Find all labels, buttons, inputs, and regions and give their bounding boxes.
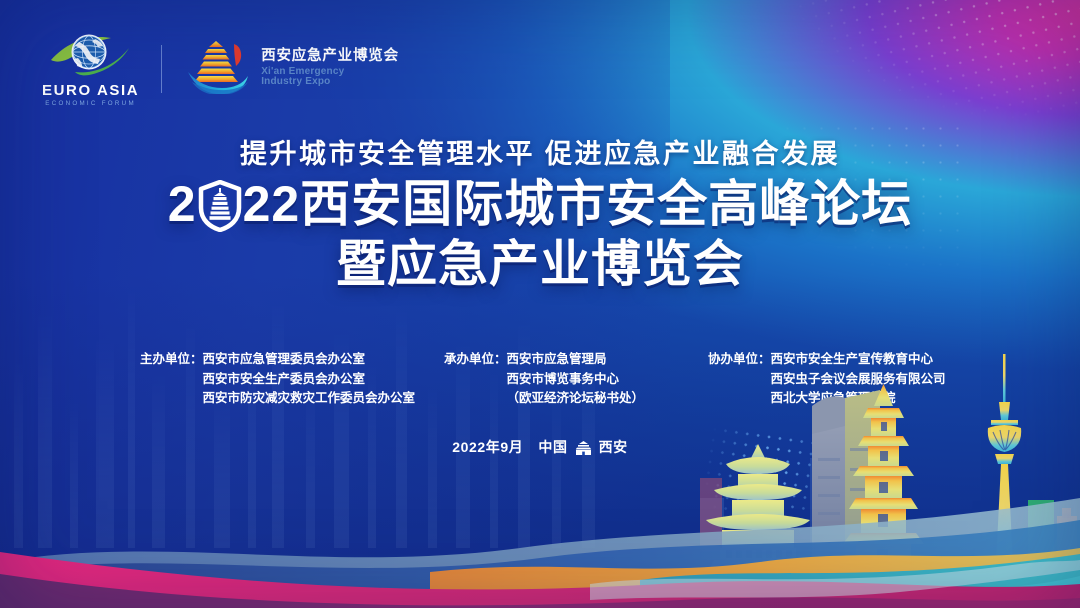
expo-name-en-line2: Industry Expo xyxy=(261,77,399,88)
title-year-prefix: 2 xyxy=(168,174,197,234)
poster-title: 2 22 西安国际城市安全高峰论坛 暨应急产业 xyxy=(0,174,1080,294)
expo-name-cn: 西安应急产业博览会 xyxy=(261,49,399,64)
title-year-suffix: 22 xyxy=(243,174,301,234)
shield-pagoda-icon xyxy=(198,180,242,232)
title-line-1-rest: 西安国际城市安全高峰论坛 xyxy=(300,174,912,234)
logo-row: EURO ASIA ECONOMIC FORUM xyxy=(42,30,399,107)
logo-euro-asia-economic-forum: EURO ASIA ECONOMIC FORUM xyxy=(42,30,139,107)
logo-xian-emergency-industry-expo: 西安应急产业博览会 Xi'an Emergency Industry Expo xyxy=(184,38,399,99)
euro-asia-subtitle: ECONOMIC FORUM xyxy=(45,100,136,107)
skyline-illustration xyxy=(0,348,1080,608)
logo-divider xyxy=(161,45,162,93)
pagoda-wave-icon xyxy=(184,38,252,99)
euro-asia-name: EURO ASIA xyxy=(42,83,139,98)
title-line-1: 2 22 西安国际城市安全高峰论坛 xyxy=(0,174,1080,234)
poster-subtitle: 提升城市安全管理水平 促进应急产业融合发展 xyxy=(0,132,1080,171)
event-poster: EURO ASIA ECONOMIC FORUM xyxy=(0,0,1080,608)
title-line-2: 暨应急产业博览会 xyxy=(0,234,1080,294)
globe-icon xyxy=(45,30,137,81)
